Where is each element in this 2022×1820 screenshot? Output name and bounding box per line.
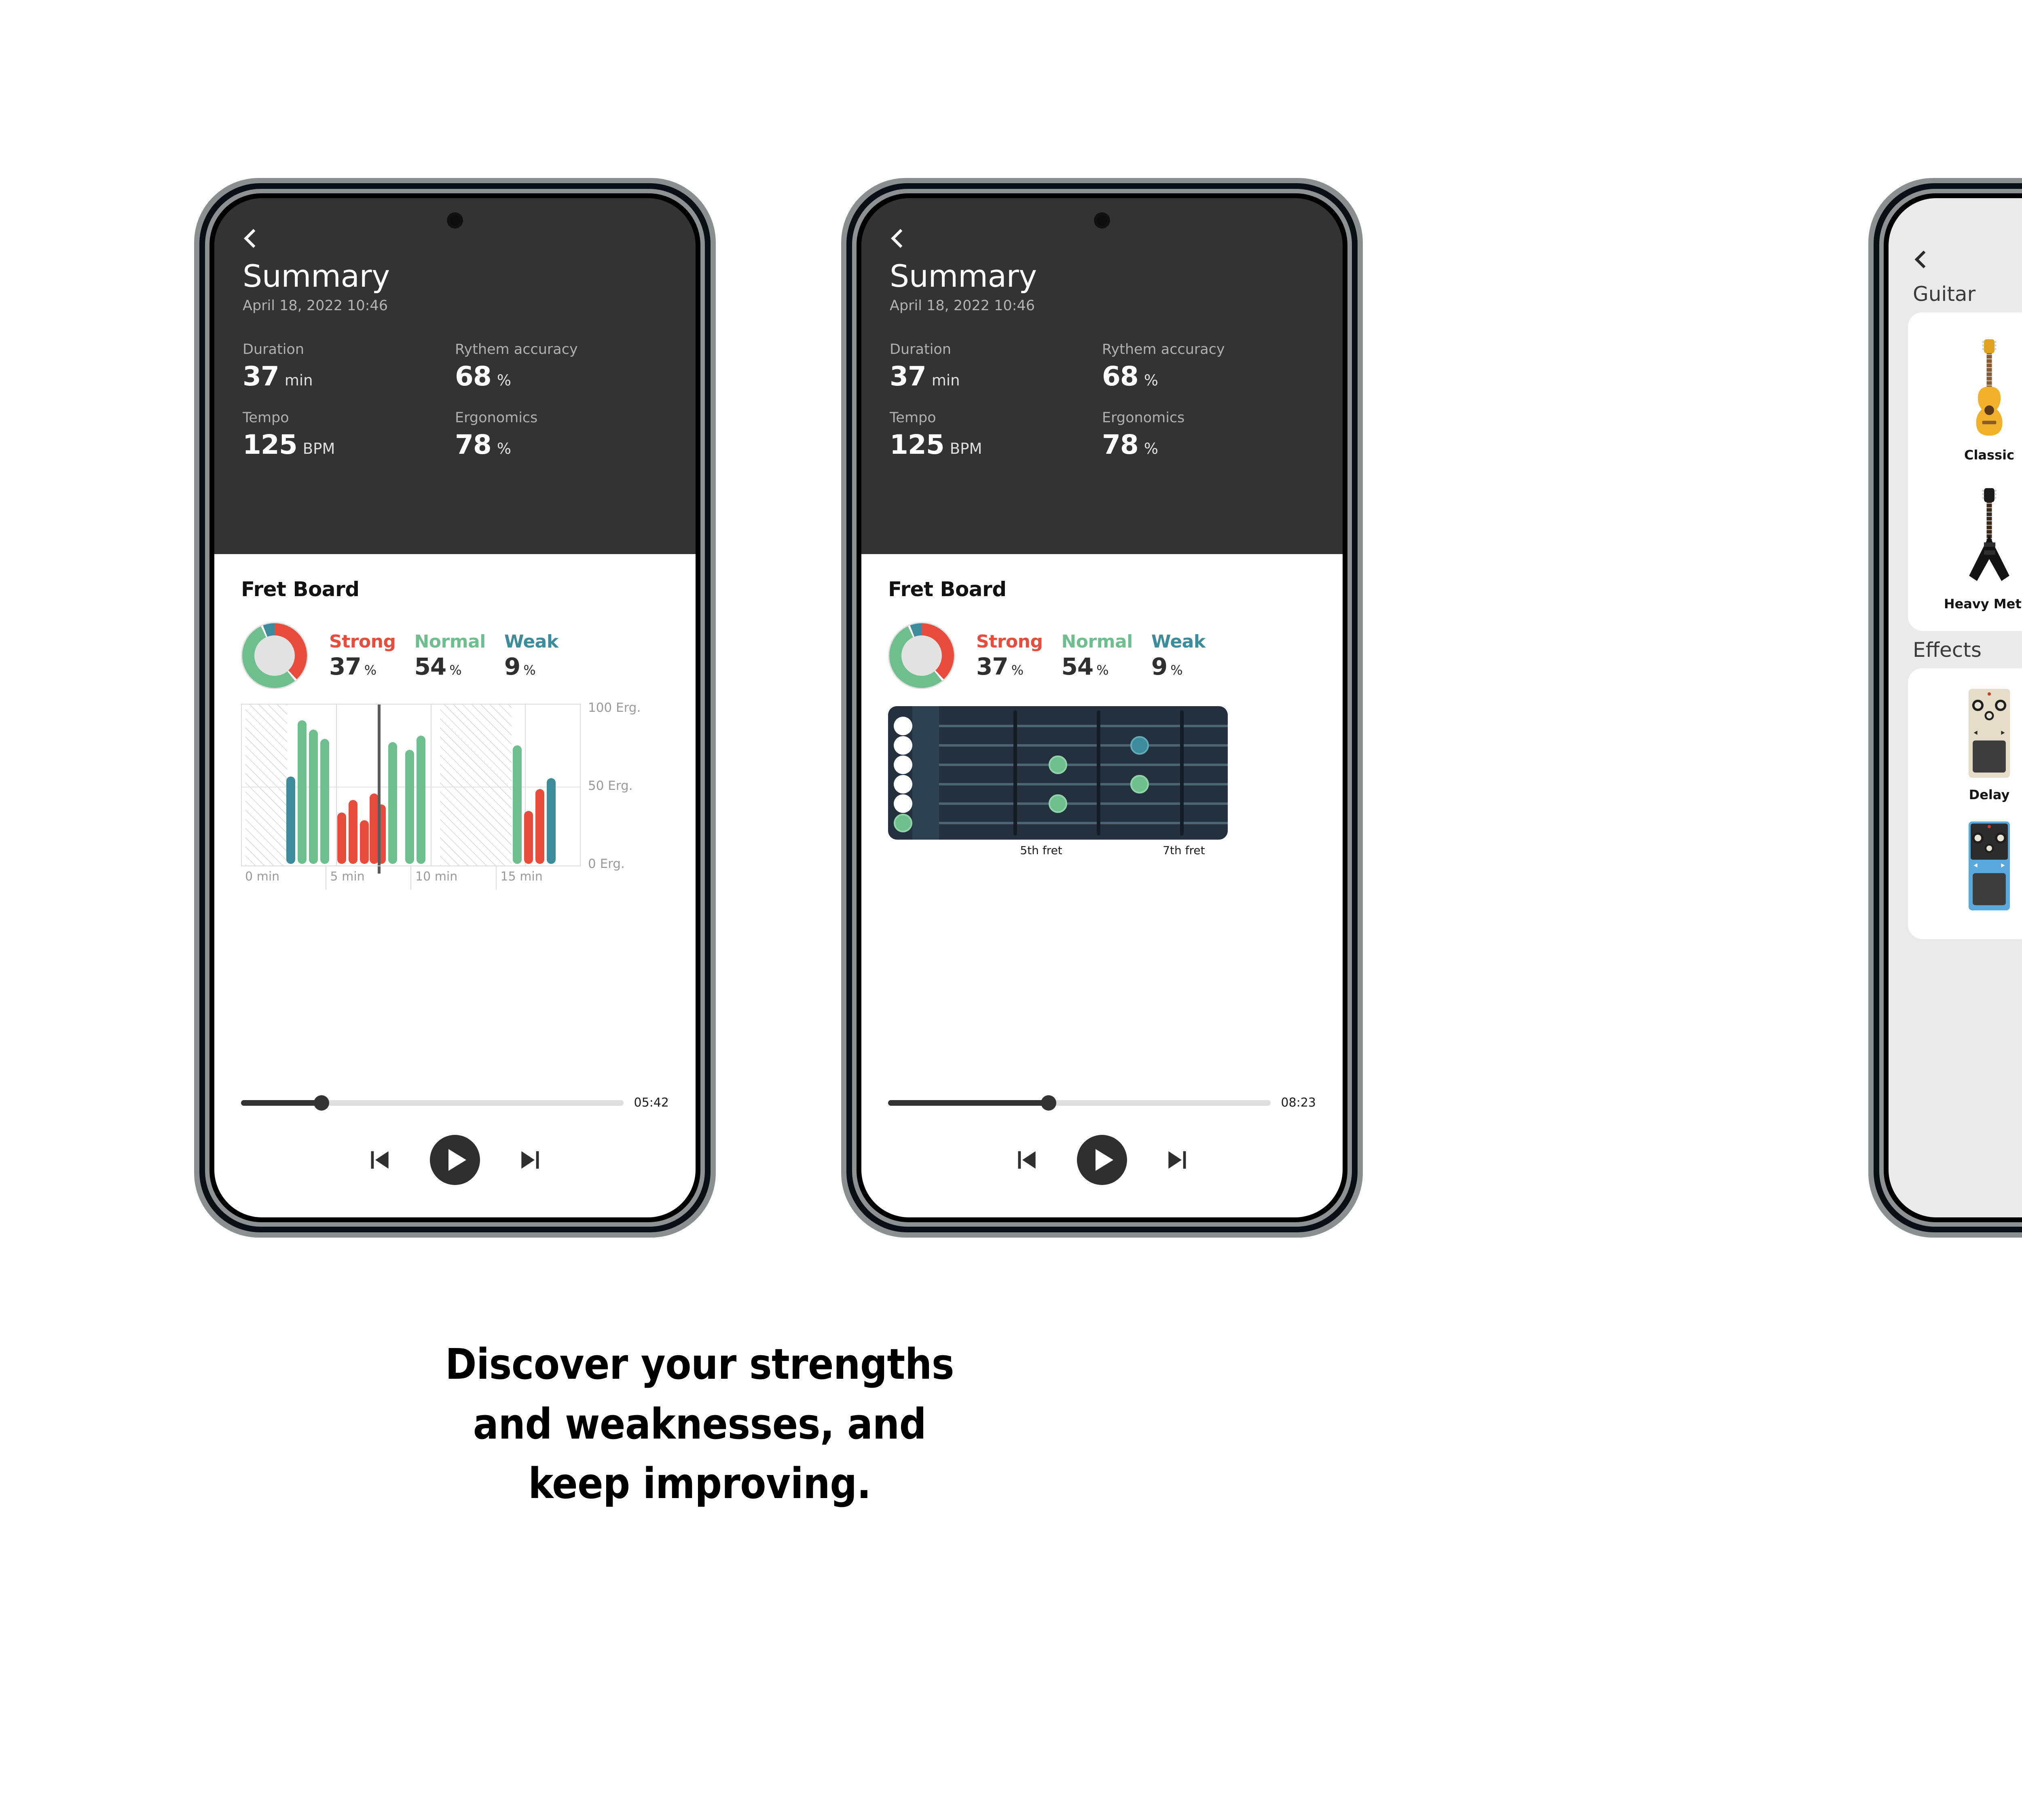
stat-unit: min [932, 372, 960, 389]
effects-card: Delay Reverb Fuzz [1908, 668, 2022, 939]
phone-sounds-library: Sounds Guitar Classic Classic Clean [1868, 178, 2022, 1238]
legend-value: 54 [414, 653, 446, 680]
stat-unit: % [497, 440, 511, 457]
legend-unit: % [1011, 662, 1024, 678]
blue-chorus-pedal-icon [1963, 819, 2015, 912]
strength-donut-chart [241, 622, 308, 689]
stat-unit: % [497, 372, 511, 389]
chart-bar [337, 813, 346, 864]
stat-unit: min [285, 372, 313, 389]
chart-x-tick-cell: 10 min [410, 866, 496, 890]
screen-sounds-library: Sounds Guitar Classic Classic Clean [1889, 198, 2022, 1217]
legend-value: 54 [1061, 653, 1093, 680]
legend-strong: Strong 37 % [329, 631, 396, 680]
fret-note-marker[interactable] [1130, 736, 1149, 755]
fret-string [939, 725, 1228, 727]
chart-bar [535, 789, 544, 864]
stat-value: 68 [455, 361, 491, 392]
chart-x-tick-label: 5 min [330, 870, 365, 884]
stat-label: Rythem accuracy [1102, 341, 1314, 358]
playback-controls: 05:42 [241, 1096, 669, 1185]
seek-slider[interactable] [241, 1100, 624, 1106]
play-button[interactable] [430, 1135, 480, 1185]
stat-value: 125 [890, 429, 944, 460]
caption-right: Choose between a diverselibrary of sound… [1844, 1335, 2022, 1514]
stat-value: 37 [890, 361, 926, 392]
stat-tempo: Tempo 125 BPM [890, 410, 1102, 460]
legend-weak: Weak 9 % [504, 631, 558, 680]
stat-label: Ergonomics [1102, 410, 1314, 426]
play-icon [448, 1149, 466, 1171]
chart-y-tick-label: 100 Erg. [588, 700, 641, 715]
play-icon [1096, 1149, 1113, 1171]
skip-previous-icon[interactable] [364, 1145, 393, 1175]
caption-left: Discover your strengthsand weaknesses, a… [218, 1335, 1181, 1514]
stat-value: 37 [243, 361, 279, 392]
legend-unit: % [1096, 662, 1108, 678]
play-button[interactable] [1077, 1135, 1127, 1185]
fret-string [939, 744, 1228, 747]
playback-controls: 08:23 [888, 1096, 1316, 1185]
page-title: Summary [243, 260, 667, 292]
summary-stat-grid: Duration 37 min Rythem accuracy 68 % [890, 341, 1314, 460]
chart-x-tick-label: 15 min [501, 870, 543, 884]
fret-note-marker[interactable] [1049, 794, 1067, 813]
chart-playhead-cursor[interactable] [378, 705, 381, 874]
chart-bar [349, 800, 357, 864]
seek-slider[interactable] [888, 1100, 1271, 1106]
chart-bar [524, 811, 533, 864]
stat-tempo: Tempo 125 BPM [243, 410, 455, 460]
legend-label: Normal [414, 631, 485, 652]
open-string-note-marker[interactable] [894, 814, 912, 832]
fret-position-labels: 5th fret7th fret [888, 844, 1228, 864]
chart-plot-area [241, 704, 581, 866]
sound-tile-label: Heavy Metal [1944, 596, 2022, 612]
page-title: Summary [890, 260, 1314, 292]
legend-weak: Weak 9 % [1151, 631, 1206, 680]
legend-strong: Strong 37 % [976, 631, 1043, 680]
chart-bar [388, 742, 397, 864]
stat-duration: Duration 37 min [243, 341, 455, 392]
fret-string [939, 802, 1228, 805]
stat-unit: BPM [950, 440, 982, 457]
chart-bar [309, 730, 318, 864]
stat-value: 68 [1102, 361, 1138, 392]
effect-tile[interactable]: Delay [1919, 680, 2022, 813]
stat-ergonomics: Ergonomics 78 % [455, 410, 667, 460]
chevron-left-icon[interactable] [890, 230, 908, 248]
screen-summary-chart: Summary April 18, 2022 10:46 Duration 37… [214, 198, 696, 1217]
stat-label: Ergonomics [455, 410, 667, 426]
seek-knob[interactable] [1041, 1095, 1056, 1111]
chart-x-tick-cell: 5 min [326, 866, 411, 890]
chart-x-tick-label: 10 min [415, 870, 457, 884]
summary-header-panel: Summary April 18, 2022 10:46 Duration 37… [861, 198, 1343, 554]
fretboard-panel: Fret Board Strong 37 % [861, 554, 1343, 1217]
stat-rythem-accuracy: Rythem accuracy 68 % [1102, 341, 1314, 392]
stat-label: Duration [243, 341, 455, 358]
open-string-marker[interactable] [894, 756, 912, 774]
summary-stat-grid: Duration 37 min Rythem accuracy 68 % [243, 341, 667, 460]
chart-x-tick-label: 0 min [245, 870, 279, 884]
session-date: April 18, 2022 10:46 [890, 298, 1314, 314]
open-string-marker[interactable] [894, 736, 912, 755]
chart-bar [286, 777, 295, 864]
chevron-left-icon[interactable] [243, 230, 261, 248]
front-camera-icon [1097, 215, 1107, 226]
legend-value: 37 [976, 653, 1008, 680]
phone-summary-chart: Summary April 18, 2022 10:46 Duration 37… [194, 178, 716, 1238]
fret-string [939, 822, 1228, 824]
legend-label: Strong [329, 631, 396, 652]
stat-duration: Duration 37 min [890, 341, 1102, 392]
front-camera-icon [450, 215, 460, 226]
chart-bar [298, 720, 307, 864]
fret-diagram: 5th fret7th fret [888, 706, 1316, 864]
chart-y-tick-label: 50 Erg. [588, 779, 633, 793]
phone-summary-fretboard: Summary April 18, 2022 10:46 Duration 37… [841, 178, 1363, 1238]
elapsed-time: 05:42 [634, 1096, 669, 1110]
section-heading-effects: Effects [1889, 631, 2022, 668]
strength-legend: Strong 37 % Normal 54 % [888, 622, 1316, 689]
flying-v-guitar-icon [1959, 480, 2020, 589]
legend-unit: % [1170, 662, 1182, 678]
legend-value: 37 [329, 653, 361, 680]
effect-tile[interactable] [1919, 813, 2022, 930]
chart-y-tick-label: 0 Erg. [588, 857, 625, 871]
skip-previous-icon[interactable] [1011, 1145, 1041, 1175]
chart-bar [417, 736, 425, 864]
stat-label: Tempo [890, 410, 1102, 426]
stat-label: Rythem accuracy [455, 341, 667, 358]
stat-unit: % [1144, 372, 1158, 389]
session-date: April 18, 2022 10:46 [243, 298, 667, 314]
skip-next-icon[interactable] [516, 1145, 546, 1175]
legend-value: 9 [504, 653, 520, 680]
fret-wire [1097, 710, 1100, 836]
open-string-marker[interactable] [894, 775, 912, 794]
seek-knob[interactable] [314, 1095, 329, 1111]
stat-value: 78 [455, 429, 491, 460]
open-string-marker[interactable] [894, 794, 912, 813]
screen-summary-fretboard: Summary April 18, 2022 10:46 Duration 37… [861, 198, 1343, 1217]
elapsed-time: 08:23 [1281, 1096, 1316, 1110]
fret-nut [912, 706, 939, 840]
chart-x-axis: 0 min5 min10 min15 min [241, 866, 581, 890]
fret-position-label: 7th fret [1163, 844, 1205, 857]
strength-legend: Strong 37 % Normal 54 % [241, 622, 669, 689]
skip-next-icon[interactable] [1163, 1145, 1193, 1175]
legend-unit: % [449, 662, 461, 678]
legend-value: 9 [1151, 653, 1167, 680]
chart-bar [360, 820, 369, 864]
acoustic-guitar-icon [1959, 331, 2020, 440]
fret-wire [1013, 710, 1017, 836]
sounds-header: Sounds [1889, 198, 2022, 275]
stat-ergonomics: Ergonomics 78 % [1102, 410, 1314, 460]
section-title-fretboard: Fret Board [888, 578, 1316, 601]
stat-value: 78 [1102, 429, 1138, 460]
chart-bar [405, 750, 414, 864]
legend-unit: % [364, 662, 376, 678]
chart-bar [547, 778, 556, 864]
chart-x-tick-cell: 0 min [241, 866, 326, 890]
eq-pedal-icon [1963, 687, 2015, 780]
legend-label: Weak [1151, 631, 1206, 652]
fret-note-marker[interactable] [1130, 775, 1149, 794]
sound-tile-label: Classic [1964, 447, 2014, 463]
stat-value: 125 [243, 429, 297, 460]
sound-tile[interactable]: Heavy Metal [1919, 473, 2022, 622]
chart-bar [513, 745, 522, 864]
fret-string [939, 783, 1228, 785]
stat-rythem-accuracy: Rythem accuracy 68 % [455, 341, 667, 392]
fretboard-panel: Fret Board Strong 37 % [214, 554, 696, 1217]
chart-x-tick-cell: 15 min [496, 866, 581, 890]
page-title: Sounds [1889, 243, 2022, 267]
summary-header-panel: Summary April 18, 2022 10:46 Duration 37… [214, 198, 696, 554]
fret-position-label: 5th fret [1020, 844, 1062, 857]
open-string-marker[interactable] [894, 717, 912, 735]
sound-tile[interactable]: Classic [1919, 324, 2022, 473]
chart-bar [320, 739, 329, 864]
fret-wire [1180, 710, 1184, 836]
stat-unit: BPM [303, 440, 335, 457]
legend-label: Normal [1061, 631, 1132, 652]
ergonomics-bar-chart: 0 min5 min10 min15 min 100 Erg.50 Erg.0 … [241, 704, 669, 890]
marketing-screenshot-stage: Summary April 18, 2022 10:46 Duration 37… [0, 0, 2022, 1820]
section-title-fretboard: Fret Board [241, 578, 669, 601]
fret-string [939, 764, 1228, 766]
strength-donut-chart [888, 622, 955, 689]
stat-label: Tempo [243, 410, 455, 426]
legend-normal: Normal 54 % [1061, 631, 1132, 680]
guitar-card: Classic Classic Clean Retro Wah Heavy Me… [1908, 312, 2022, 631]
legend-label: Strong [976, 631, 1043, 652]
legend-normal: Normal 54 % [414, 631, 485, 680]
stat-unit: % [1144, 440, 1158, 457]
legend-unit: % [523, 662, 535, 678]
fret-note-marker[interactable] [1049, 756, 1067, 774]
section-heading-guitar: Guitar [1889, 275, 2022, 312]
legend-label: Weak [504, 631, 558, 652]
stat-label: Duration [890, 341, 1102, 358]
effect-tile-label: Delay [1969, 787, 2010, 802]
